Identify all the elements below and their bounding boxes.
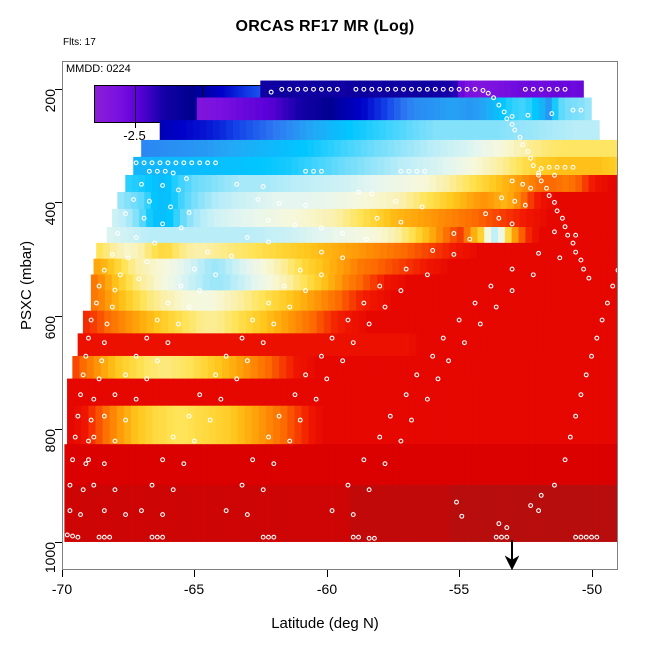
x-axis-tick [327,570,328,577]
x-axis-tick [459,570,460,577]
chart-root: ORCAS RF17 MR (Log) Flts: 17 MMDD: 0224 … [0,0,650,650]
x-axis-tick [194,570,195,577]
flights-count-label: Flts: 17 [63,37,96,48]
x-axis-tick-label: -70 [52,581,72,597]
x-axis-tick [62,570,63,577]
y-axis-tick-label: 1000 [42,542,58,573]
x-axis-tick-label: -55 [449,581,469,597]
x-axis-tick-label: -60 [317,581,337,597]
x-axis-title: Latitude (deg N) [0,615,650,632]
x-axis-tick-label: -50 [582,581,602,597]
y-axis-tick-label: 600 [42,316,58,339]
x-axis-tick [592,570,593,577]
y-axis-tick-label: 400 [42,202,58,225]
y-axis-tick-label: 200 [42,89,58,112]
y-axis-title: PSXC (mbar) [18,241,35,330]
curtain-heatmap [63,62,617,569]
x-axis-tick-label: -65 [184,581,204,597]
page-title: ORCAS RF17 MR (Log) [0,18,650,36]
y-axis-tick-label: 800 [42,429,58,452]
